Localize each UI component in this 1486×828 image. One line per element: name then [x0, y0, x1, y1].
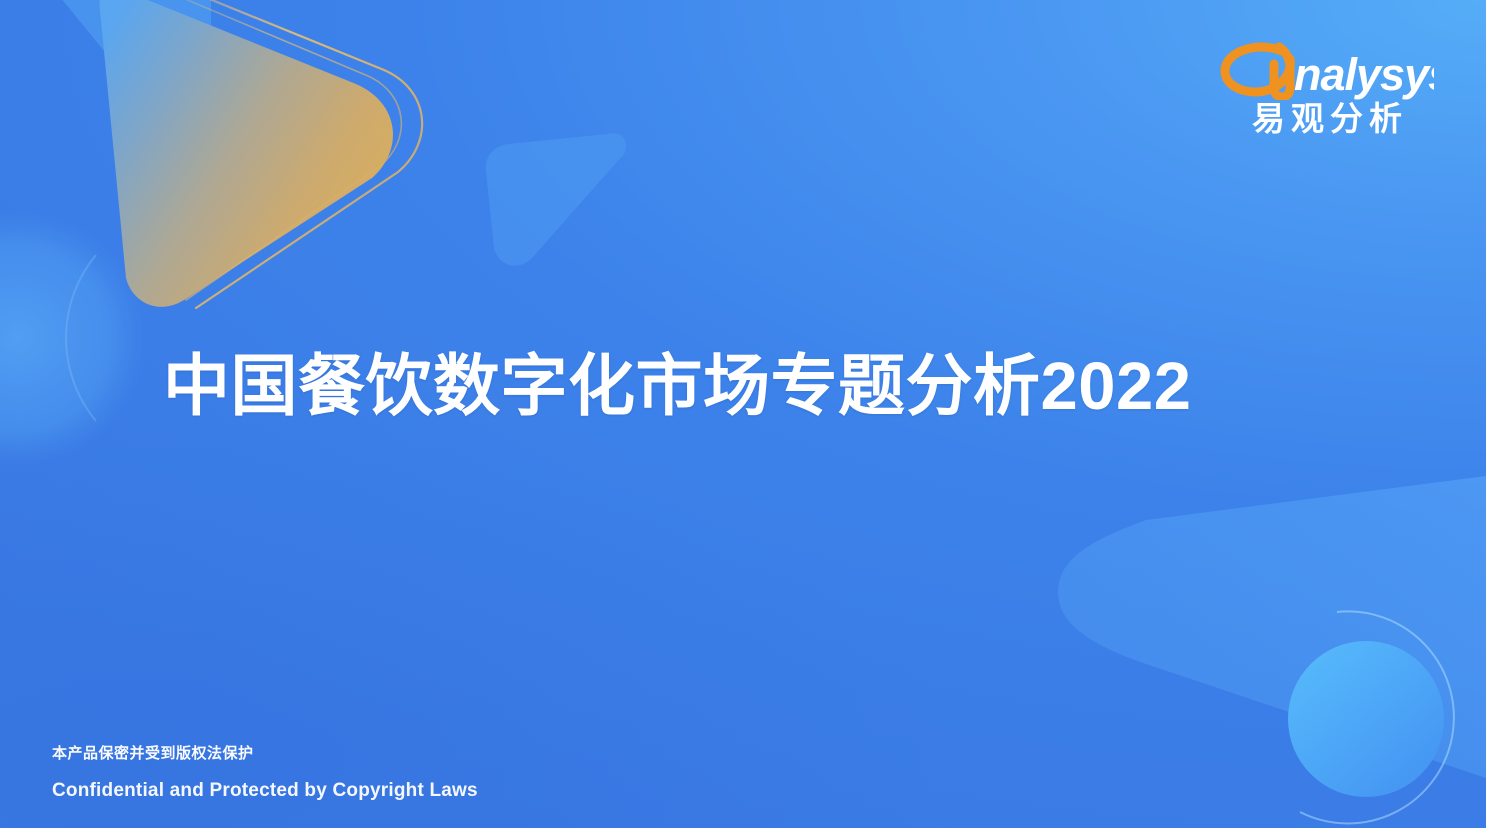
analysys-logo: nalysys 易观分析 — [1220, 38, 1434, 137]
logo-chinese-name: 易观分析 — [1220, 102, 1434, 137]
copyright-notice-cn: 本产品保密并受到版权法保护 — [52, 743, 478, 766]
copyright-notice-en: Confidential and Protected by Copyright … — [52, 779, 478, 804]
title-slide: nalysys 易观分析 中国餐饮数字化市场专题分析2022 本产品保密并受到版… — [0, 0, 1486, 828]
logo-wordmark: nalysys — [1220, 38, 1434, 100]
analysys-mark-icon — [1225, 47, 1290, 97]
logo-wordmark-text: nalysys — [1294, 49, 1434, 100]
copyright-footer: 本产品保密并受到版权法保护 Confidential and Protected… — [52, 743, 478, 804]
slide-title: 中国餐饮数字化市场专题分析2022 — [163, 349, 1192, 424]
